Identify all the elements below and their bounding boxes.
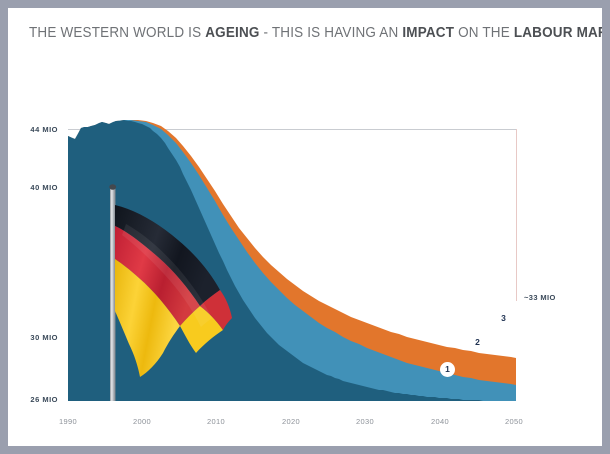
slide-canvas: THE WESTERN WORLD IS AGEING - THIS IS HA…	[8, 8, 602, 446]
chart-plot-area	[68, 120, 516, 401]
title-part-1: THE WESTERN WORLD IS	[29, 25, 205, 41]
x-axis-label-2010: 2010	[196, 417, 236, 426]
y-axis-label-40: 40 MIO	[14, 183, 58, 192]
page-title: THE WESTERN WORLD IS AGEING - THIS IS HA…	[29, 25, 602, 41]
x-axis-label-2030: 2030	[345, 417, 385, 426]
area-chart	[68, 120, 516, 401]
y-axis-label-44: 44 MIO	[14, 125, 58, 134]
x-axis-label-2020: 2020	[271, 417, 311, 426]
series-marker-2[interactable]: 2	[470, 335, 485, 350]
title-emphasis-labour-market: LABOUR MARKET	[514, 25, 602, 41]
title-part-3: ON THE	[454, 25, 514, 41]
x-axis-label-1990: 1990	[48, 417, 88, 426]
x-axis-label-2050: 2050	[494, 417, 534, 426]
end-value-label: ~33 MIO	[524, 293, 556, 302]
x-axis-label-2000: 2000	[122, 417, 162, 426]
series-marker-1[interactable]: 1	[440, 362, 455, 377]
title-emphasis-ageing: AGEING	[205, 25, 259, 41]
y-axis-label-26: 26 MIO	[14, 395, 58, 404]
x-axis-label-2040: 2040	[420, 417, 460, 426]
end-value-dropline	[516, 129, 517, 301]
y-axis-label-30: 30 MIO	[14, 333, 58, 342]
title-emphasis-impact: IMPACT	[402, 25, 454, 41]
title-part-2: - THIS IS HAVING AN	[260, 25, 403, 41]
chart-svg	[68, 120, 516, 401]
series-marker-3[interactable]: 3	[496, 311, 511, 326]
